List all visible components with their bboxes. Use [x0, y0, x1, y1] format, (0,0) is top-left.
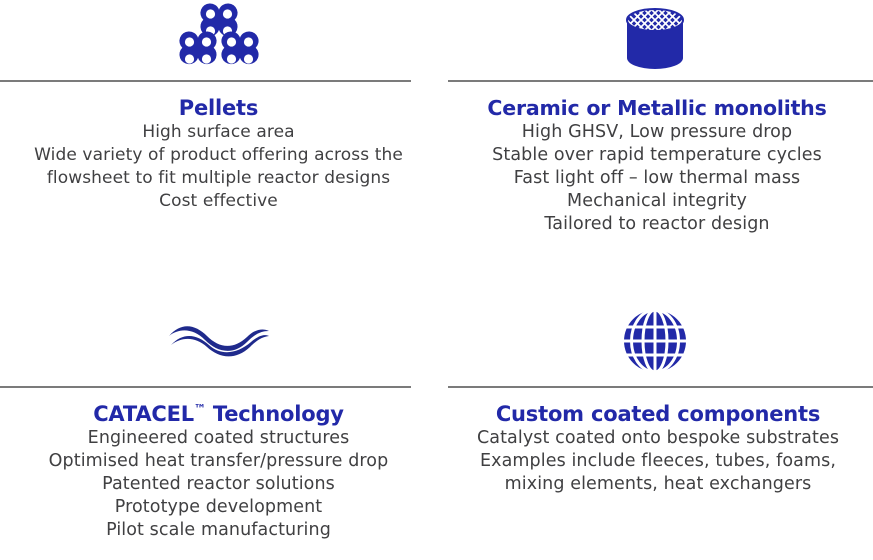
panel-heading-catacel: CATACEL™ Technology: [8, 401, 429, 427]
list-item: flowsheet to fit multiple reactor design…: [8, 167, 429, 190]
catacel-bullet-list: Engineered coated structures Optimised h…: [8, 427, 429, 542]
panel-custom-coated: Custom coated components Catalyst coated…: [437, 280, 873, 560]
panel-heading-pellets: Pellets: [8, 95, 429, 121]
panel-heading-custom-coated: Custom coated components: [447, 401, 869, 427]
list-item: Tailored to reactor design: [451, 213, 863, 236]
monoliths-bullet-list: High GHSV, Low pressure drop Stable over…: [451, 121, 863, 236]
list-item: Fast light off – low thermal mass: [451, 167, 863, 190]
pellets-text-block: Pellets High surface area Wide variety o…: [0, 82, 437, 213]
custom-coated-text-block: Custom coated components Catalyst coated…: [437, 388, 873, 496]
list-item: Catalyst coated onto bespoke substrates: [447, 427, 869, 450]
list-item: High surface area: [8, 121, 429, 144]
trademark-symbol: ™: [194, 402, 206, 416]
panel-monoliths: Ceramic or Metallic monoliths High GHSV,…: [437, 0, 873, 280]
panel-heading-monoliths: Ceramic or Metallic monoliths: [451, 95, 863, 121]
catacel-wordmark: CATACEL: [93, 402, 194, 426]
custom-coated-bullet-list: Catalyst coated onto bespoke substrates …: [447, 427, 869, 496]
list-item: Engineered coated structures: [8, 427, 429, 450]
list-item: Pilot scale manufacturing: [8, 519, 429, 542]
catacel-swoosh-icon: [167, 320, 271, 362]
list-item: mixing elements, heat exchangers: [447, 473, 869, 496]
pellets-icon-zone: [0, 0, 437, 80]
list-item: High GHSV, Low pressure drop: [451, 121, 863, 144]
panel-catacel: CATACEL™ Technology Engineered coated st…: [0, 280, 437, 560]
catacel-icon-zone: [0, 280, 437, 386]
product-feature-grid: Pellets High surface area Wide variety o…: [0, 0, 873, 560]
monolith-icon-zone: [437, 0, 873, 80]
pellets-icon: [176, 2, 262, 74]
catacel-text-block: CATACEL™ Technology Engineered coated st…: [0, 388, 437, 542]
list-item: Wide variety of product offering across …: [8, 144, 429, 167]
catacel-heading-rest: Technology: [206, 402, 344, 426]
globe-icon: [621, 307, 689, 375]
monoliths-text-block: Ceramic or Metallic monoliths High GHSV,…: [437, 82, 873, 236]
pellets-bullet-list: High surface area Wide variety of produc…: [8, 121, 429, 213]
panel-pellets: Pellets High surface area Wide variety o…: [0, 0, 437, 280]
list-item: Cost effective: [8, 190, 429, 213]
list-item: Stable over rapid temperature cycles: [451, 144, 863, 167]
globe-icon-zone: [437, 280, 873, 386]
monolith-cylinder-icon: [624, 3, 686, 75]
list-item: Prototype development: [8, 496, 429, 519]
list-item: Patented reactor solutions: [8, 473, 429, 496]
list-item: Mechanical integrity: [451, 190, 863, 213]
list-item: Examples include fleeces, tubes, foams,: [447, 450, 869, 473]
list-item: Optimised heat transfer/pressure drop: [8, 450, 429, 473]
